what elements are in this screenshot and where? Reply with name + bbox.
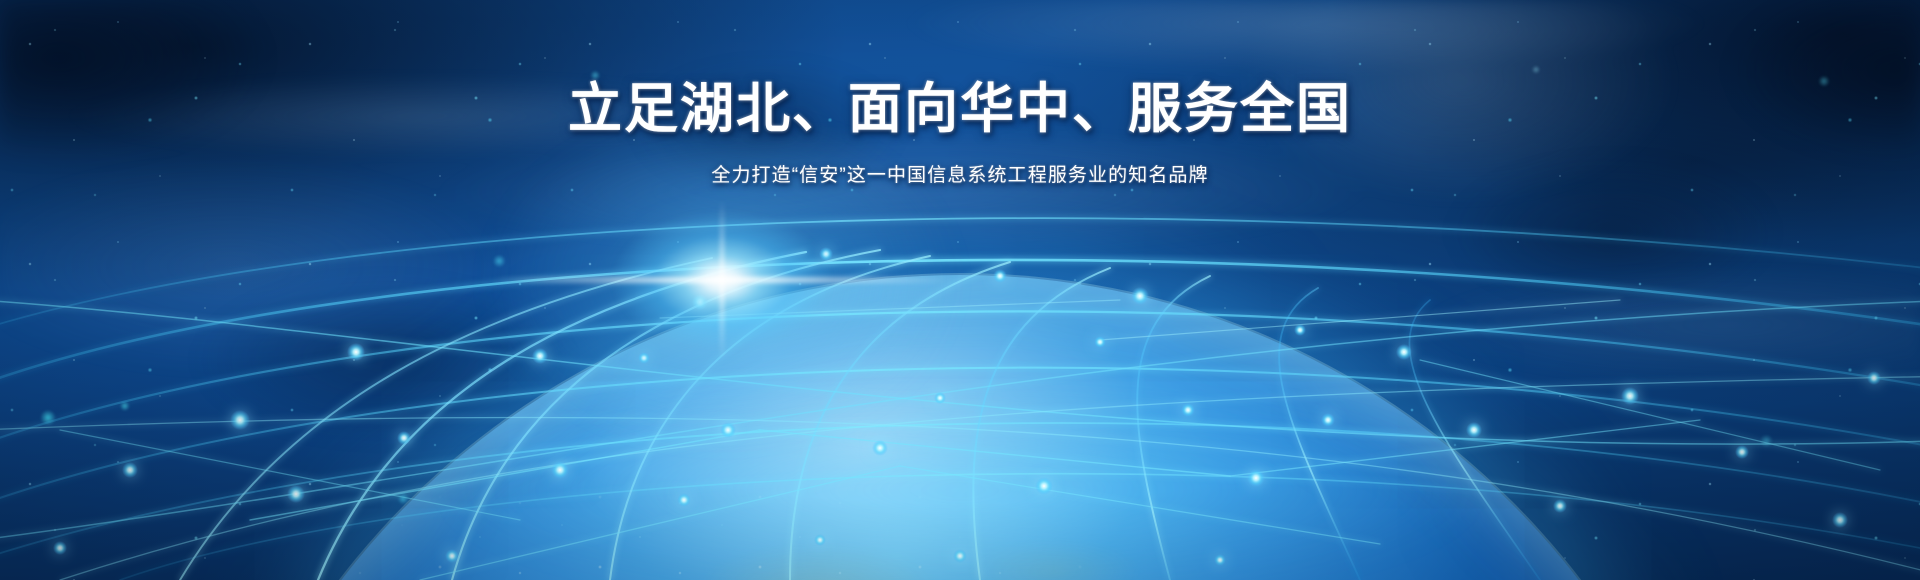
banner-subheadline: 全力打造“信安”这一中国信息系统工程服务业的知名品牌 bbox=[0, 160, 1920, 187]
light-burst-ray-vertical bbox=[720, 200, 724, 360]
banner-headline: 立足湖北、面向华中、服务全国 bbox=[0, 78, 1920, 142]
banner-copy: 立足湖北、面向华中、服务全国 全力打造“信安”这一中国信息系统工程服务业的知名品… bbox=[0, 78, 1920, 187]
hero-banner: 立足湖北、面向华中、服务全国 全力打造“信安”这一中国信息系统工程服务业的知名品… bbox=[0, 0, 1920, 580]
